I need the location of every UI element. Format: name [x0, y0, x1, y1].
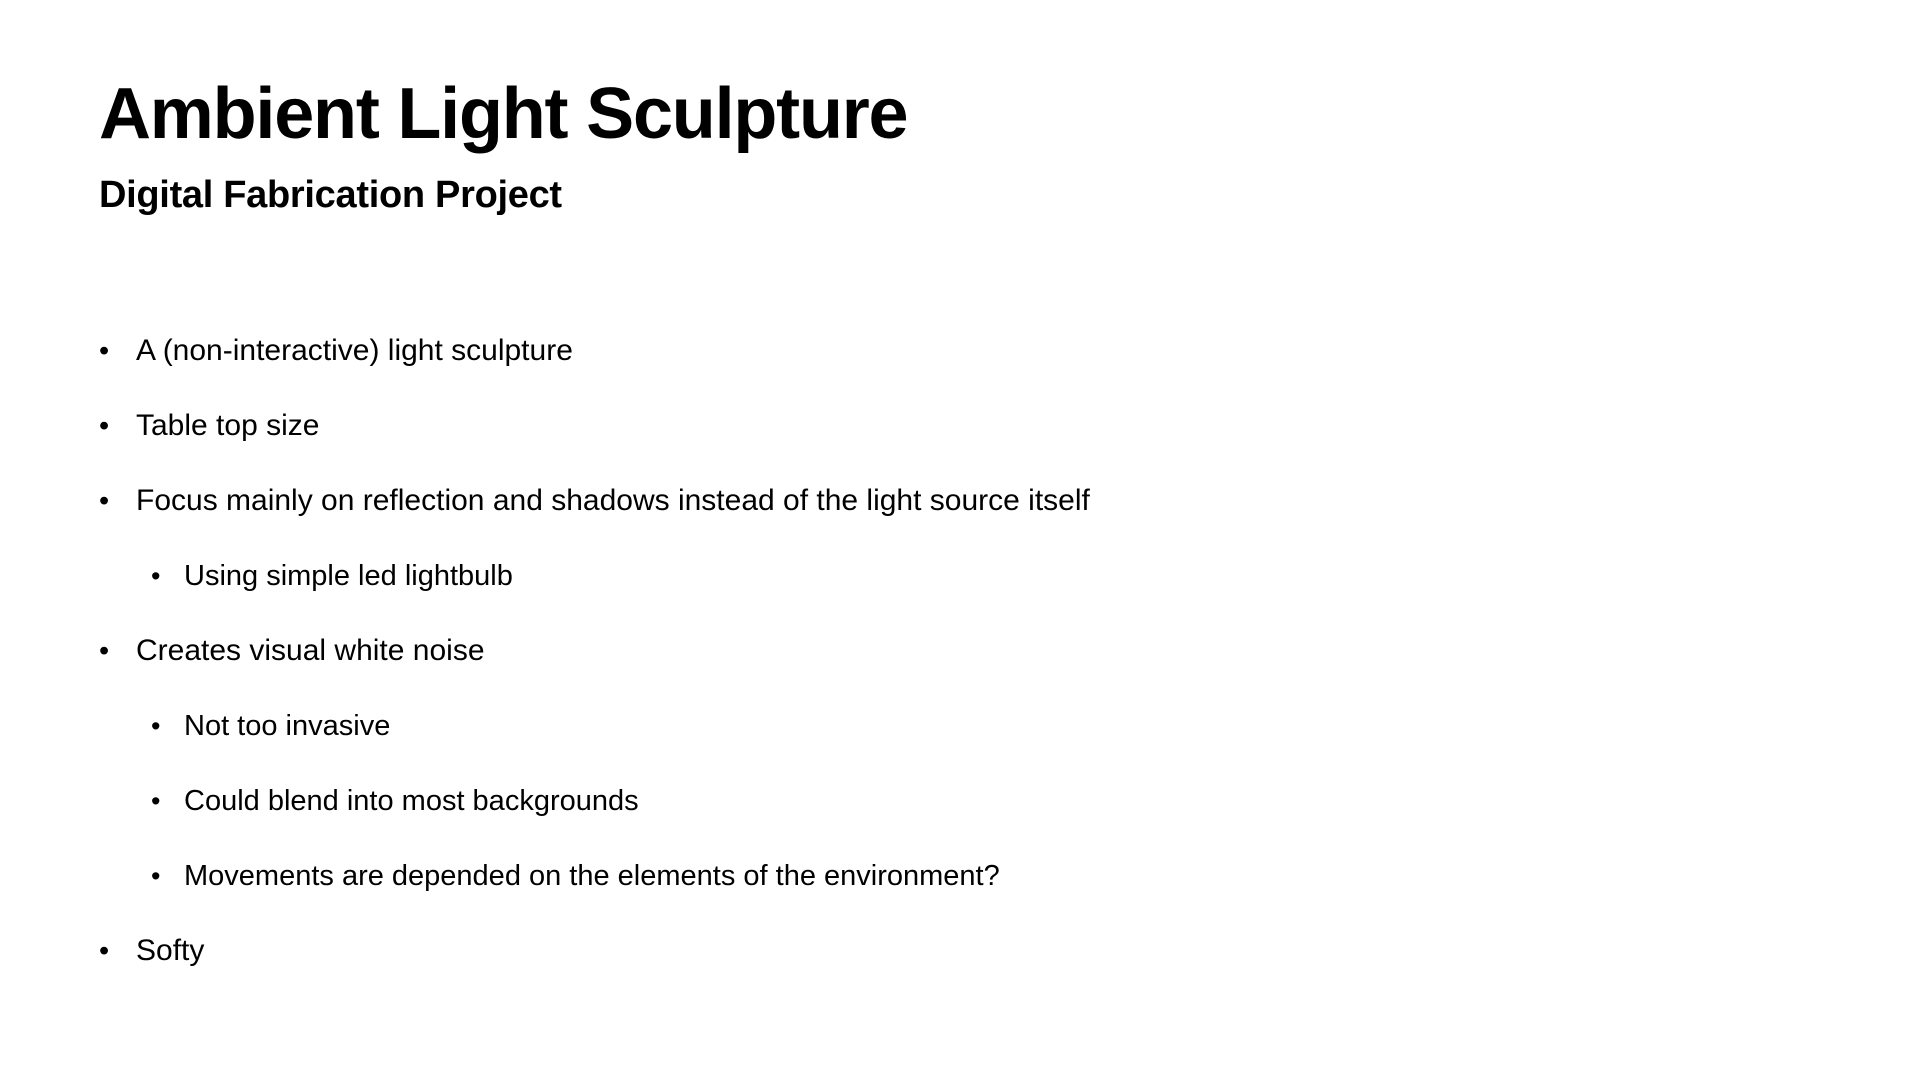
bullet-point-icon: •: [99, 633, 136, 669]
list-item: • Movements are depended on the elements…: [99, 858, 1799, 933]
bullet-point-icon: •: [99, 483, 136, 519]
list-item: • Could blend into most backgrounds: [99, 783, 1799, 858]
bullet-point-icon: •: [99, 408, 136, 444]
bullet-point-icon: •: [151, 708, 184, 744]
list-item-label: Could blend into most backgrounds: [184, 783, 639, 819]
list-item: • A (non-interactive) light sculpture: [99, 333, 1799, 408]
list-item: • Focus mainly on reflection and shadows…: [99, 483, 1799, 558]
list-item-label: Movements are depended on the elements o…: [184, 858, 1000, 894]
list-item: • Creates visual white noise: [99, 633, 1799, 708]
bullet-list: • A (non-interactive) light sculpture • …: [99, 333, 1799, 1008]
bullet-point-icon: •: [151, 858, 184, 894]
title-block: Ambient Light Sculpture Digital Fabricat…: [99, 78, 907, 214]
bullet-point-icon: •: [99, 933, 136, 969]
slide-title: Ambient Light Sculpture: [99, 78, 907, 150]
list-item-label: Creates visual white noise: [136, 633, 485, 669]
presentation-slide: Ambient Light Sculpture Digital Fabricat…: [0, 0, 1920, 1080]
list-item-label: Softy: [136, 933, 204, 969]
list-item-label: Table top size: [136, 408, 319, 444]
list-item-label: Focus mainly on reflection and shadows i…: [136, 483, 1090, 519]
slide-subtitle: Digital Fabrication Project: [99, 150, 907, 214]
list-item: • Not too invasive: [99, 708, 1799, 783]
bullet-point-icon: •: [99, 333, 136, 369]
list-item-label: A (non-interactive) light sculpture: [136, 333, 573, 369]
bullet-point-icon: •: [151, 783, 184, 819]
list-item: • Table top size: [99, 408, 1799, 483]
list-item: • Softy: [99, 933, 1799, 1008]
list-item-label: Using simple led lightbulb: [184, 558, 513, 594]
bullet-point-icon: •: [151, 558, 184, 594]
list-item: • Using simple led lightbulb: [99, 558, 1799, 633]
list-item-label: Not too invasive: [184, 708, 390, 744]
